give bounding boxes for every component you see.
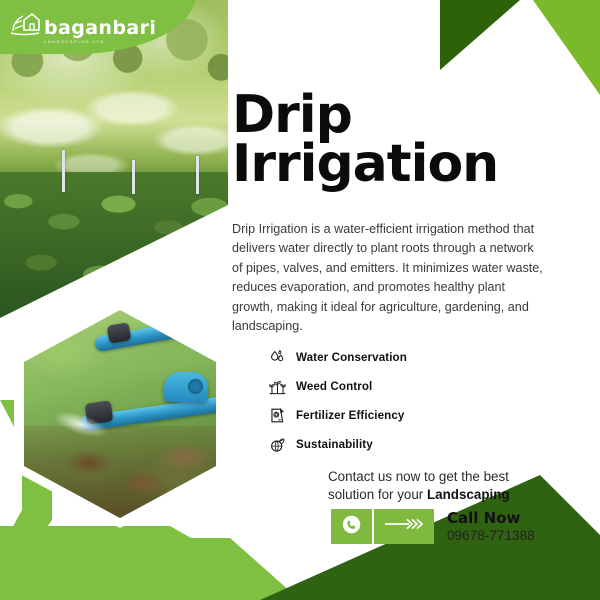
feature-item-weed-control: Weed Control — [268, 377, 518, 396]
call-now-label: Call Now — [447, 510, 535, 527]
feature-item-fertilizer-efficiency: Fertilizer Efficiency — [268, 406, 518, 425]
water-drops-icon — [268, 348, 287, 367]
feature-list: Water Conservation Weed Control — [268, 348, 518, 454]
house-plant-logo-icon — [10, 11, 40, 44]
title-line-2: Irrigation — [232, 140, 562, 189]
feature-label: Sustainability — [296, 438, 373, 451]
sprinkler-post — [196, 156, 199, 194]
phone-icon — [341, 514, 362, 540]
sustainability-globe-icon — [268, 435, 287, 454]
phone-icon-button[interactable] — [331, 509, 372, 544]
contact-heading-bold: Landscaping — [427, 487, 510, 502]
brand-name: baganbari — [44, 19, 156, 38]
phone-number[interactable]: 09678-771388 — [447, 528, 535, 543]
feature-label: Fertilizer Efficiency — [296, 409, 404, 422]
weed-plants-icon — [268, 377, 287, 396]
fertilizer-bag-icon — [268, 406, 287, 425]
description-paragraph: Drip Irrigation is a water-efficient irr… — [232, 220, 544, 337]
corner-triangle-dark-top-right — [440, 0, 520, 70]
call-icon-group[interactable] — [331, 509, 434, 544]
brand-logo-text: baganbari LANDSCAPING LTD — [44, 19, 156, 44]
arrow-right-icon — [383, 516, 425, 537]
photo-crop-rows-layer — [0, 172, 228, 318]
valve-knob — [164, 372, 208, 402]
call-now-cta[interactable]: Call Now 09678-771388 — [331, 509, 535, 544]
poster-canvas: baganbari LANDSCAPING LTD Drip Irrigatio… — [0, 0, 600, 600]
feature-label: Weed Control — [296, 380, 372, 393]
arrow-icon-button[interactable] — [372, 509, 434, 544]
contact-heading: Contact us now to get the best solution … — [328, 468, 558, 503]
feature-item-sustainability: Sustainability — [268, 435, 518, 454]
page-title: Drip Irrigation — [232, 91, 562, 190]
feature-label: Water Conservation — [296, 351, 407, 364]
sprinkler-post — [132, 160, 135, 194]
call-text-block: Call Now 09678-771388 — [447, 510, 535, 543]
sprinkler-post — [62, 150, 65, 192]
corner-triangle-light-top-right — [495, 0, 600, 95]
feature-item-water-conservation: Water Conservation — [268, 348, 518, 367]
brand-tagline: LANDSCAPING LTD — [44, 40, 156, 44]
